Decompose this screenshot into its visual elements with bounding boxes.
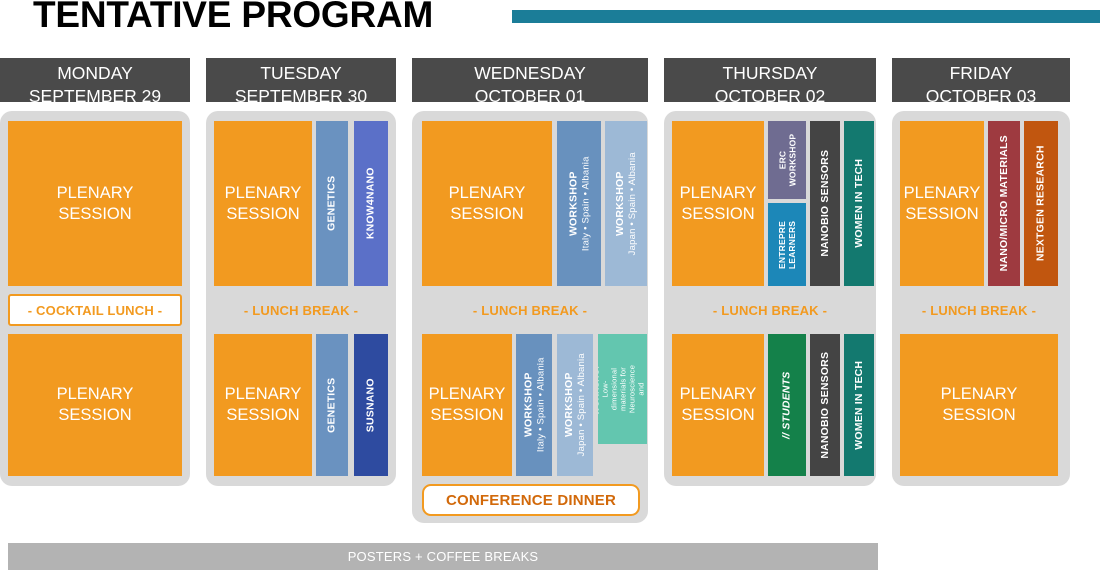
day-header-friday: FRIDAY OCTOBER 03	[892, 58, 1070, 102]
day-date: OCTOBER 01	[412, 85, 648, 108]
session-block-women-in-tech[interactable]: WOMEN IN TECH	[844, 121, 874, 286]
break-row-friday: - LUNCH BREAK -	[900, 294, 1058, 326]
day-body-tuesday: PLENARY SESSION GENETICS KNOW4NANO - LUN…	[206, 111, 396, 486]
session-block-workshop-low-dimensional-materials[interactable]: WORKSHOP Low-dimensional materials for N…	[598, 334, 647, 444]
session-block-women-in-tech[interactable]: WOMEN IN TECH	[844, 334, 874, 476]
title-area: TENTATIVE PROGRAM	[0, 0, 1100, 46]
session-block-students[interactable]: // STUDENTS	[768, 334, 806, 476]
session-block-plenary[interactable]: PLENARY SESSION	[672, 334, 764, 476]
session-block-genetics[interactable]: GENETICS	[316, 121, 348, 286]
day-header-tuesday: TUESDAY SEPTEMBER 30	[206, 58, 396, 102]
session-block-nanobio-sensors[interactable]: NANOBIO SENSORS	[810, 334, 840, 476]
day-header-wednesday: WEDNESDAY OCTOBER 01	[412, 58, 648, 102]
break-row-thursday: - LUNCH BREAK -	[672, 294, 868, 326]
break-row-wednesday: - LUNCH BREAK -	[420, 294, 640, 326]
session-block-workshop-japan-spain-albania[interactable]: WORKSHOP Japan • Spain • Albania	[557, 334, 593, 476]
day-date: OCTOBER 02	[664, 85, 876, 108]
day-weekday: THURSDAY	[664, 62, 876, 85]
day-weekday: MONDAY	[0, 62, 190, 85]
session-block-nano-micro-materials[interactable]: NANO/MICRO MATERIALS	[988, 121, 1020, 286]
title-accent-line	[512, 10, 1100, 23]
day-weekday: WEDNESDAY	[412, 62, 648, 85]
day-header-monday: MONDAY SEPTEMBER 29	[0, 58, 190, 102]
session-block-know4nano[interactable]: KNOW4NANO	[354, 121, 388, 286]
day-column-friday: FRIDAY OCTOBER 03 PLENARY SESSION NANO/M…	[892, 58, 1070, 486]
session-block-plenary[interactable]: PLENARY SESSION	[900, 334, 1058, 476]
session-block-plenary[interactable]: PLENARY SESSION	[422, 334, 512, 476]
session-block-nextgen-research[interactable]: NEXTGEN RESEARCH	[1024, 121, 1058, 286]
session-block-nanobio-sensors[interactable]: NANOBIO SENSORS	[810, 121, 840, 286]
session-block-plenary[interactable]: PLENARY SESSION	[8, 121, 182, 286]
session-block-genetics[interactable]: GENETICS	[316, 334, 348, 476]
session-block-workshop-italy-spain-albania[interactable]: WORKSHOP Italy • Spain • Albania	[557, 121, 601, 286]
day-body-monday: PLENARY SESSION - COCKTAIL LUNCH - PLENA…	[0, 111, 190, 486]
session-block-workshop-italy-spain-albania[interactable]: WORKSHOP Italy • Spain • Albania	[516, 334, 552, 476]
session-block-plenary[interactable]: PLENARY SESSION	[8, 334, 182, 476]
session-block-plenary[interactable]: PLENARY SESSION	[214, 334, 312, 476]
day-body-wednesday: PLENARY SESSION WORKSHOP Italy • Spain •…	[412, 111, 648, 523]
break-row-tuesday: - LUNCH BREAK -	[214, 294, 388, 326]
session-block-plenary[interactable]: PLENARY SESSION	[900, 121, 984, 286]
day-column-thursday: THURSDAY OCTOBER 02 PLENARY SESSION ERC …	[664, 58, 876, 486]
session-block-erc-workshop[interactable]: ERC WORKSHOP	[768, 121, 806, 199]
day-column-wednesday: WEDNESDAY OCTOBER 01 PLENARY SESSION WOR…	[412, 58, 648, 523]
break-row-monday: - COCKTAIL LUNCH -	[8, 294, 182, 326]
day-body-thursday: PLENARY SESSION ERC WORKSHOP ENTREPRE LE…	[664, 111, 876, 486]
session-block-plenary[interactable]: PLENARY SESSION	[672, 121, 764, 286]
day-date: SEPTEMBER 29	[0, 85, 190, 108]
day-column-tuesday: TUESDAY SEPTEMBER 30 PLENARY SESSION GEN…	[206, 58, 396, 486]
session-block-entrepre-learners[interactable]: ENTREPRE LEARNERS	[768, 203, 806, 286]
session-block-plenary[interactable]: PLENARY SESSION	[422, 121, 552, 286]
day-column-monday: MONDAY SEPTEMBER 29 PLENARY SESSION - CO…	[0, 58, 190, 486]
page-title: TENTATIVE PROGRAM	[33, 0, 433, 36]
conference-dinner-bar[interactable]: CONFERENCE DINNER	[422, 484, 640, 516]
day-date: OCTOBER 03	[892, 85, 1070, 108]
day-body-friday: PLENARY SESSION NANO/MICRO MATERIALS NEX…	[892, 111, 1070, 486]
day-date: SEPTEMBER 30	[206, 85, 396, 108]
day-header-thursday: THURSDAY OCTOBER 02	[664, 58, 876, 102]
posters-coffee-breaks-bar: POSTERS + COFFEE BREAKS	[8, 543, 878, 570]
session-block-susnano[interactable]: SUSNANO	[354, 334, 388, 476]
session-block-workshop-japan-spain-albania[interactable]: WORKSHOP Japan • Spain • Albania	[605, 121, 647, 286]
day-weekday: FRIDAY	[892, 62, 1070, 85]
session-block-plenary[interactable]: PLENARY SESSION	[214, 121, 312, 286]
day-weekday: TUESDAY	[206, 62, 396, 85]
